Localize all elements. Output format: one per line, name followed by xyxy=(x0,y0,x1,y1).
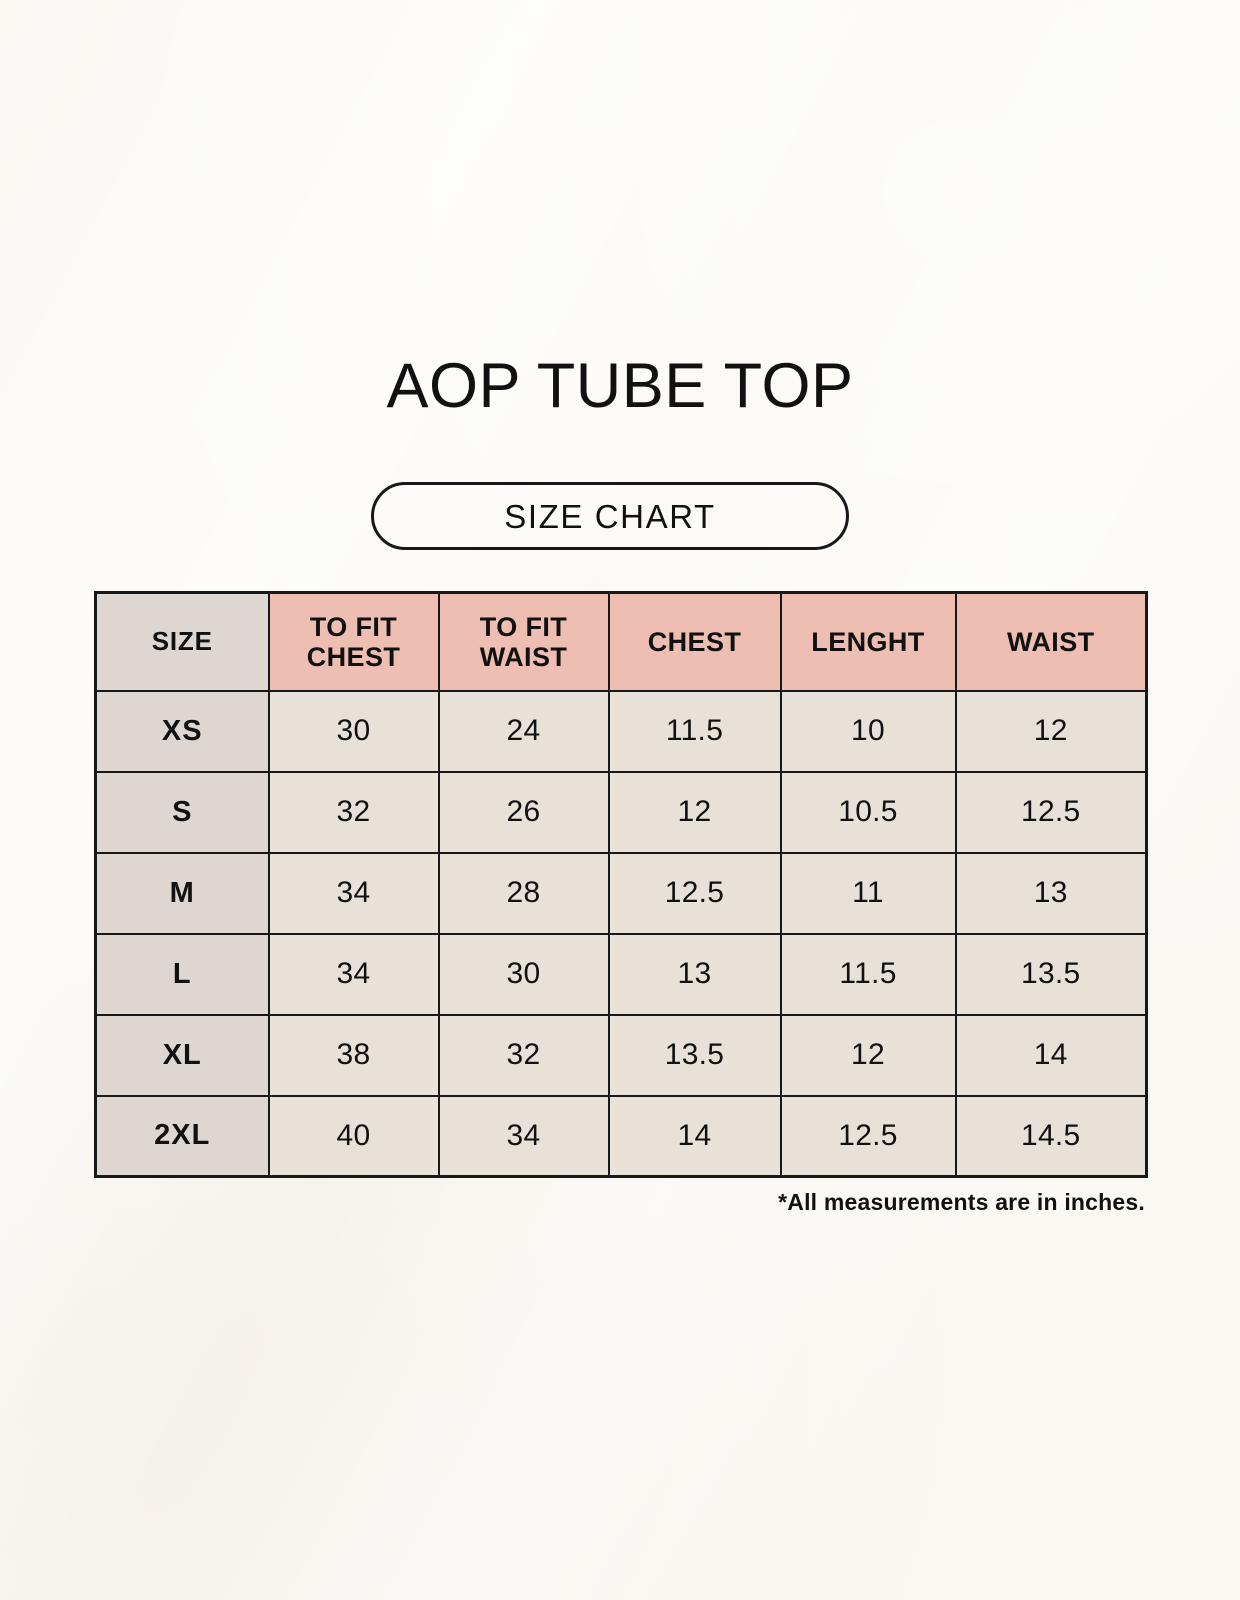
table-row: XS 30 24 11.5 10 12 xyxy=(96,691,1147,772)
cell-to-fit-waist: 28 xyxy=(439,853,609,934)
cell-chest: 11.5 xyxy=(609,691,781,772)
size-chart-badge: SIZE CHART xyxy=(371,482,849,550)
column-header-chest-line-1: CHEST xyxy=(614,627,776,657)
cell-to-fit-chest: 32 xyxy=(269,772,439,853)
table-row: S 32 26 12 10.5 12.5 xyxy=(96,772,1147,853)
table-row: XL 38 32 13.5 12 14 xyxy=(96,1015,1147,1096)
cell-size: M xyxy=(96,853,269,934)
measurement-unit-note: *All measurements are in inches. xyxy=(94,1188,1145,1218)
column-header-waist-line-1: WAIST xyxy=(961,627,1142,657)
column-header-to-fit-chest-line-2: CHEST xyxy=(274,642,434,672)
cell-waist: 14.5 xyxy=(956,1096,1147,1177)
column-header-to-fit-waist-line-2: WAIST xyxy=(444,642,604,672)
cell-waist: 12 xyxy=(956,691,1147,772)
cell-chest: 13.5 xyxy=(609,1015,781,1096)
cell-to-fit-chest: 34 xyxy=(269,934,439,1015)
cell-to-fit-chest: 40 xyxy=(269,1096,439,1177)
table-body: XS 30 24 11.5 10 12 S 32 26 12 10.5 12.5… xyxy=(96,691,1147,1177)
cell-chest: 14 xyxy=(609,1096,781,1177)
cell-lenght: 12 xyxy=(781,1015,956,1096)
cell-to-fit-waist: 32 xyxy=(439,1015,609,1096)
cell-chest: 12 xyxy=(609,772,781,853)
cell-to-fit-chest: 34 xyxy=(269,853,439,934)
size-chart-table: SIZE TO FIT CHEST TO FIT WAIST CHEST LEN xyxy=(94,591,1148,1178)
cell-lenght: 11.5 xyxy=(781,934,956,1015)
cell-waist: 12.5 xyxy=(956,772,1147,853)
table-header-row: SIZE TO FIT CHEST TO FIT WAIST CHEST LEN xyxy=(96,593,1147,691)
column-header-to-fit-waist-line-1: TO FIT xyxy=(444,612,604,642)
cell-to-fit-waist: 26 xyxy=(439,772,609,853)
cell-lenght: 10 xyxy=(781,691,956,772)
page-title: AOP TUBE TOP xyxy=(0,352,1240,420)
table-header: SIZE TO FIT CHEST TO FIT WAIST CHEST LEN xyxy=(96,593,1147,691)
cell-size: L xyxy=(96,934,269,1015)
cell-to-fit-waist: 24 xyxy=(439,691,609,772)
cell-size: XS xyxy=(96,691,269,772)
cell-to-fit-waist: 30 xyxy=(439,934,609,1015)
cell-chest: 12.5 xyxy=(609,853,781,934)
cell-size: 2XL xyxy=(96,1096,269,1177)
cell-size: XL xyxy=(96,1015,269,1096)
table-row: 2XL 40 34 14 12.5 14.5 xyxy=(96,1096,1147,1177)
column-header-to-fit-waist: TO FIT WAIST xyxy=(439,593,609,691)
cell-waist: 13 xyxy=(956,853,1147,934)
cell-waist: 13.5 xyxy=(956,934,1147,1015)
column-header-size: SIZE xyxy=(96,593,269,691)
cell-to-fit-chest: 38 xyxy=(269,1015,439,1096)
column-header-waist: WAIST xyxy=(956,593,1147,691)
cell-to-fit-waist: 34 xyxy=(439,1096,609,1177)
column-header-lenght: LENGHT xyxy=(781,593,956,691)
column-header-to-fit-chest-line-1: TO FIT xyxy=(274,612,434,642)
size-chart-page: AOP TUBE TOP SIZE CHART SIZE TO FIT xyxy=(0,0,1240,1600)
column-header-to-fit-chest: TO FIT CHEST xyxy=(269,593,439,691)
cell-lenght: 12.5 xyxy=(781,1096,956,1177)
size-chart-badge-label: SIZE CHART xyxy=(504,500,716,533)
cell-chest: 13 xyxy=(609,934,781,1015)
table-row: L 34 30 13 11.5 13.5 xyxy=(96,934,1147,1015)
column-header-size-line-1: SIZE xyxy=(101,627,264,656)
cell-size: S xyxy=(96,772,269,853)
size-chart-table-wrapper: SIZE TO FIT CHEST TO FIT WAIST CHEST LEN xyxy=(94,591,1145,1178)
column-header-lenght-line-1: LENGHT xyxy=(786,627,951,657)
column-header-chest: CHEST xyxy=(609,593,781,691)
cell-lenght: 11 xyxy=(781,853,956,934)
table-row: M 34 28 12.5 11 13 xyxy=(96,853,1147,934)
cell-lenght: 10.5 xyxy=(781,772,956,853)
cell-to-fit-chest: 30 xyxy=(269,691,439,772)
cell-waist: 14 xyxy=(956,1015,1147,1096)
